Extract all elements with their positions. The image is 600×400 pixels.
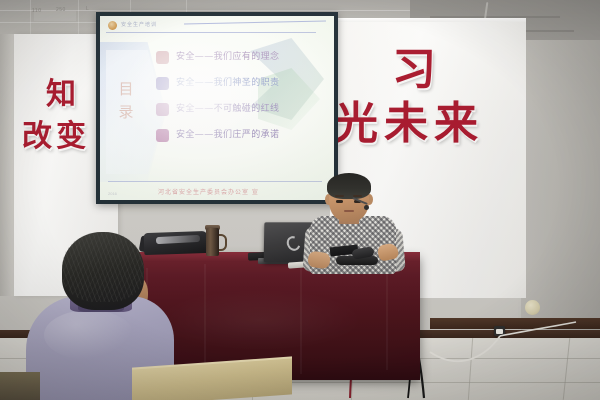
slide-bullet-text: 安全——我们应有的理念 — [176, 49, 279, 62]
thermos-mug — [206, 228, 219, 256]
slide-bullet-text: 安全——我们庄严的承诺 — [176, 127, 279, 140]
tablecloth-sheen — [160, 290, 360, 350]
ceiling-label-1: 110 — [32, 8, 41, 14]
slide-bullet-text: 安全——我们神圣的职责 — [176, 75, 279, 88]
wall-slogan-left-line-2: 改变 — [22, 122, 90, 152]
slide-footer-text: 河北省安全生产委员会办公室 宣 — [158, 187, 259, 196]
slide-bullet-icon — [156, 103, 169, 116]
slide-bullet-icon — [156, 129, 169, 142]
slide-bullet-row: 安全——我们庄严的承诺 — [156, 126, 332, 152]
ceiling-label-3: L — [86, 6, 89, 12]
thermos-handle — [218, 234, 227, 251]
chair-back — [0, 372, 40, 400]
slide-bullet-list: 安全——我们应有的理念 安全——我们神圣的职责 安全——不可触碰的红线 安全——… — [156, 48, 332, 152]
microphone-icon — [364, 205, 369, 210]
slide-footer-date: 2016 — [108, 191, 117, 196]
ceiling-label-2: 250 — [56, 7, 66, 13]
slide-bullet-row: 安全——我们应有的理念 — [156, 48, 332, 74]
wall-slogan-right-line-2: 光未来 — [334, 102, 484, 146]
speaker-hair — [327, 173, 371, 199]
projection-screen-frame: 安全生产培训 目录 安全——我们应有的理念 安全——我们神圣的职责 — [96, 12, 338, 204]
attendee-hair-texture — [62, 232, 144, 302]
wall-slogan-left-line-1: 知 — [46, 80, 76, 110]
outlet-plug — [496, 329, 503, 334]
wall-slogan-right-line-1: 习 — [392, 48, 436, 92]
attendee-shirt-highlight — [44, 310, 134, 360]
slide-bullet-row: 安全——我们神圣的职责 — [156, 74, 332, 100]
slide-bullet-icon — [156, 51, 169, 64]
round-wall-fixture-icon — [525, 300, 540, 315]
slide-bullet-icon — [156, 77, 169, 90]
slide-header-rule-2 — [184, 21, 326, 25]
slide-header-rule — [106, 32, 316, 33]
slide-footer-rule — [108, 181, 322, 182]
wall-recessed-panel — [520, 40, 600, 340]
slide-bullet-row: 安全——不可触碰的红线 — [156, 100, 332, 126]
photo-scene: 110 250 L 知 改变 习 光未来 安全生产培训 目录 — [0, 0, 600, 400]
speaker-left-forearm — [307, 251, 331, 270]
speaker-mouth — [344, 210, 354, 212]
slide-toc-label: 目录 — [116, 78, 136, 123]
projected-slide: 安全生产培训 目录 安全——我们应有的理念 安全——我们神圣的职责 — [100, 16, 334, 200]
slide-header-text: 安全生产培训 — [121, 21, 157, 28]
emblem-logo-icon — [108, 21, 117, 30]
slide-bullet-text: 安全——不可触碰的红线 — [176, 101, 279, 114]
baseboard-right — [430, 318, 600, 329]
